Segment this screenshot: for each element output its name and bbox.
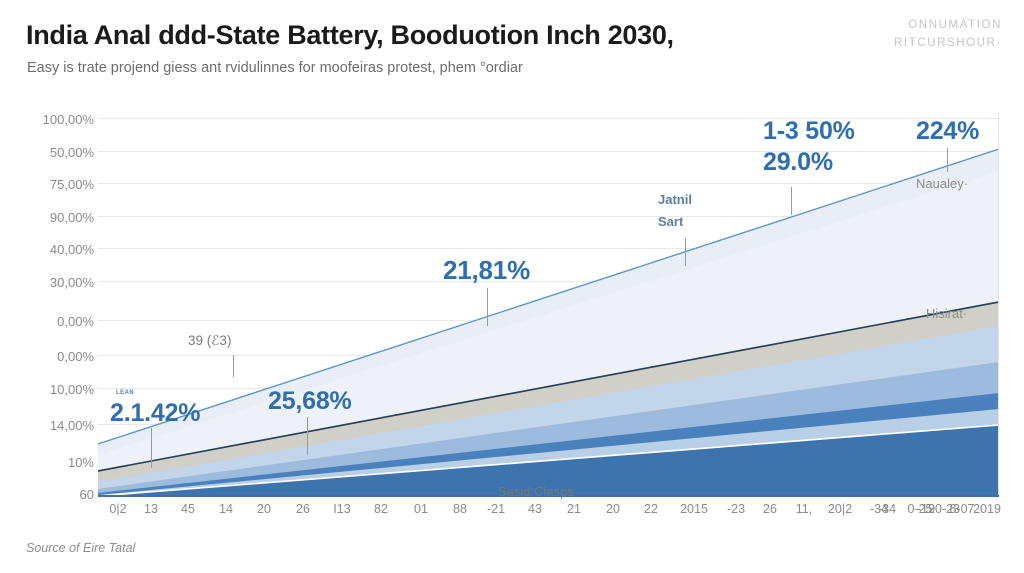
x-tick-label: 11, [796,502,812,516]
series-label-naualey: Naualey· [916,176,968,191]
data-label-value-upper-left-2: 29.0% [763,148,833,177]
series-label-hisirat: Hisirat· [926,306,967,321]
leader-line [307,417,308,455]
page-subtitle: Easy is trate projend giess ant rvidulin… [27,60,523,76]
y-tick-label: 50,00% [0,145,94,160]
data-label-value-second: 25,68% [268,387,352,416]
data-label-value-middle: 21,81% [443,255,530,286]
x-tick-label: -23 [727,502,745,516]
leader-line [487,288,488,326]
y-tick-label: 0,00% [0,314,94,329]
data-label-micro: LEAN [116,390,134,396]
x-tick-label: 22 [644,502,658,516]
plot-area: Sasid Clasps Naualey· Hisirat· [98,113,999,497]
x-tick-label: 13 [144,502,158,516]
y-tick-label: 75,00% [0,177,94,192]
x-axis: 0|2 13 45 14 20 26 I13 82 01 88 -21 43 2… [98,502,999,524]
brand-watermark: ONNUMATION RITCURSHOUR· [822,16,1002,52]
y-tick-label: 40,00% [0,242,94,257]
annotation-sart: Sart [658,213,683,230]
x-tick-label: -34 [878,502,896,516]
axis-right-spine [998,113,999,497]
x-tick-label: 01 [414,502,428,516]
x-tick-label: 2019 [973,502,1001,516]
data-label-value-upper-left: 1-3 50% [763,117,855,146]
y-tick-label: 14,00% [0,418,94,433]
band-label-sasid-clasps: Sasid Clasps [498,484,574,499]
x-tick-label: 26 [763,502,777,516]
chart-page: India Anal ddd-State Battery, Booduotion… [0,0,1024,573]
x-tick-label: 2015 [680,502,708,516]
data-label-note-39: 39 (ℰ3) [188,333,231,349]
y-tick-label: 10,00% [0,382,94,397]
x-tick-label: 43 [528,502,542,516]
y-tick-label: 10% [0,455,94,470]
x-tick-label: 14 [219,502,233,516]
y-tick-label: 0,00% [0,349,94,364]
chart-header: India Anal ddd-State Battery, Booduotion… [0,0,1024,96]
x-tick-label: 21 [567,502,581,516]
x-tick-label: 82 [374,502,388,516]
annotation-jatnil: Jatnil [658,191,692,208]
source-note: Source of Eire Tatal [26,541,135,555]
leader-line [151,428,152,468]
data-label-value-upper-right: 224% [916,117,979,146]
leader-line [233,355,234,377]
x-tick-label: -21 [487,502,505,516]
leader-line [685,238,686,266]
x-tick-label: 20|2 [828,502,852,516]
watermark-line-2: RITCURSHOUR· [822,34,1002,52]
x-tick-label: 26 [296,502,310,516]
y-tick-label: 60 [0,487,94,502]
x-tick-label: 45 [181,502,195,516]
page-title: India Anal ddd-State Battery, Booduotion… [26,20,674,51]
y-tick-label: 100,00% [0,112,94,127]
watermark-line-1: ONNUMATION [822,16,1002,34]
series-bands [98,113,999,497]
x-tick-label: 20-23 [928,502,960,516]
y-tick-label: 90,00% [0,210,94,225]
y-tick-label: 30,00% [0,275,94,290]
x-tick-label: 88 [453,502,467,516]
x-tick-label: 20 [257,502,271,516]
x-tick-label: 20 [606,502,620,516]
leader-line [947,148,948,172]
x-tick-label: I13 [333,502,350,516]
leader-line [791,187,792,215]
data-label-value-left: 2.1.42% [110,399,200,428]
x-tick-label: 0|2 [109,502,126,516]
